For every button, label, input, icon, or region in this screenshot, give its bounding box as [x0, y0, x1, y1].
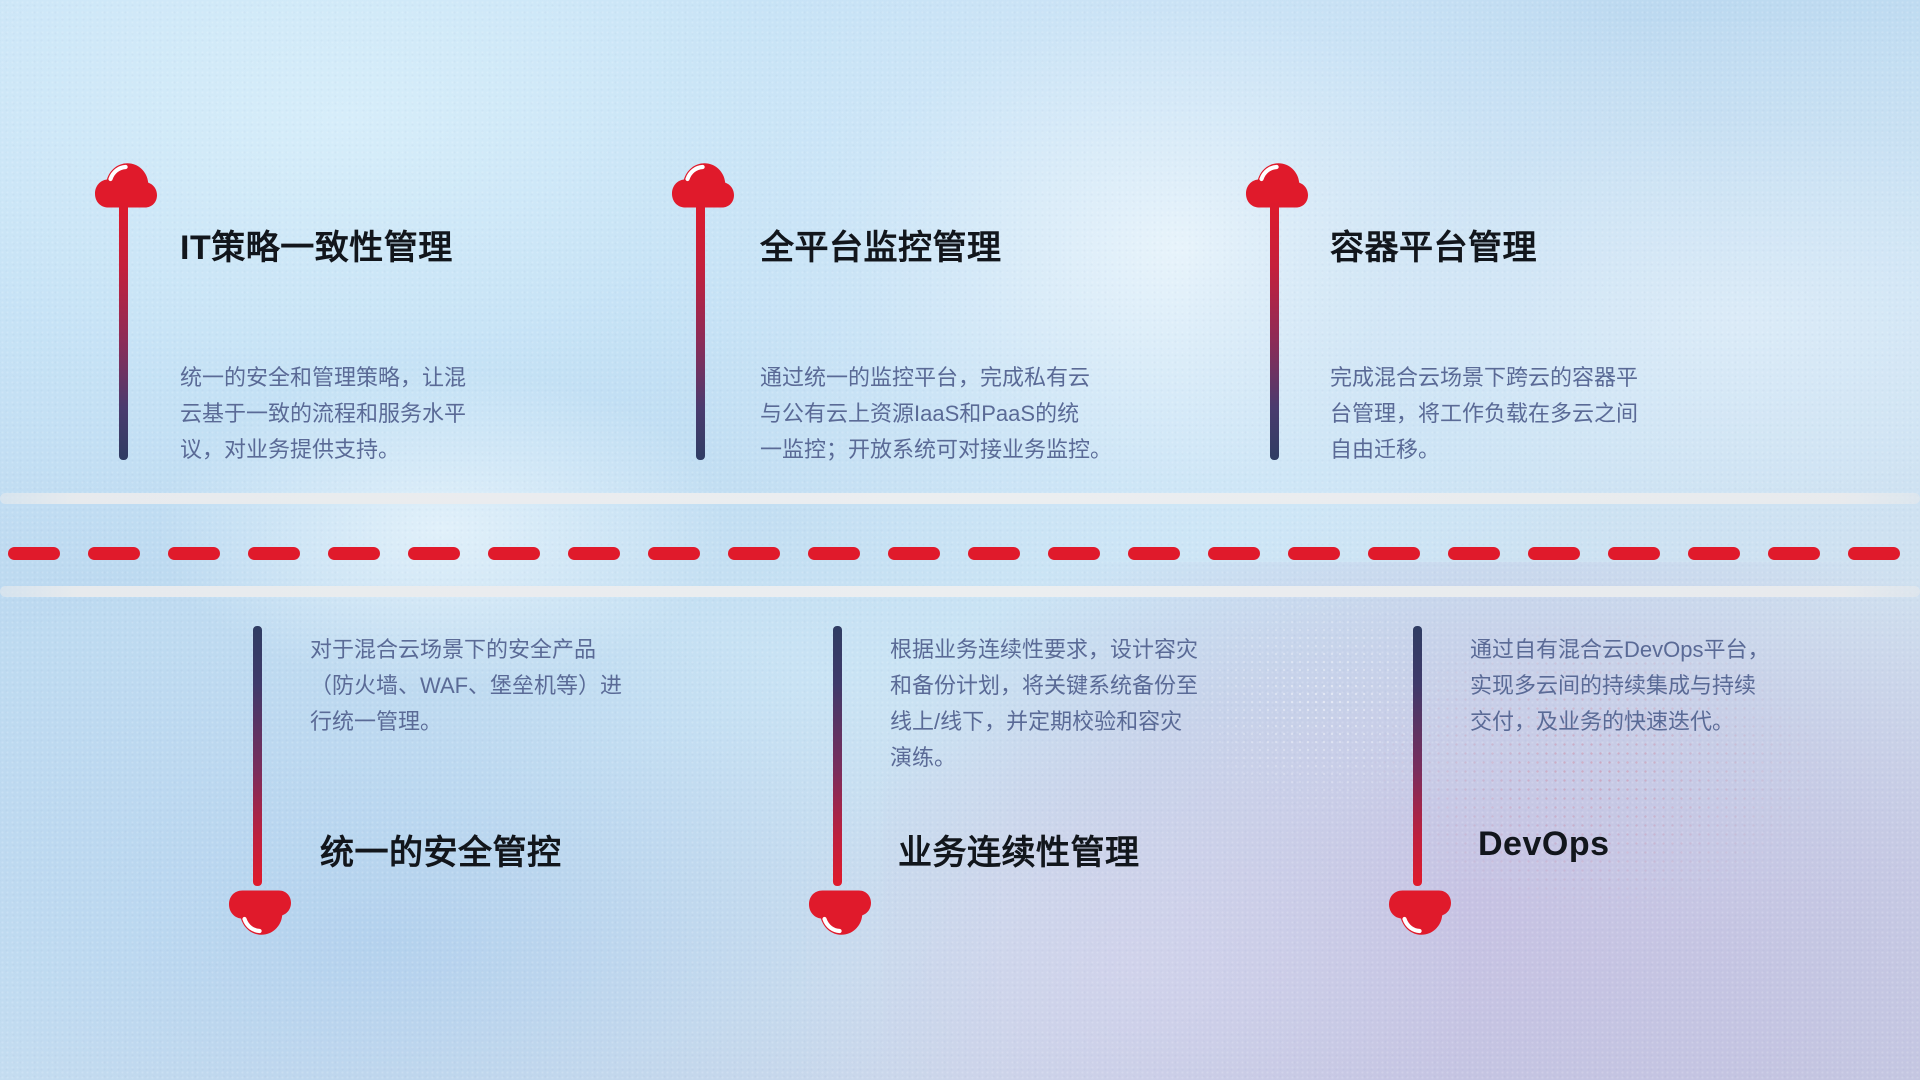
divider-dash: [1608, 547, 1660, 560]
divider-dash: [88, 547, 140, 560]
connector-stem: [1413, 626, 1422, 886]
divider-rail-bottom: [0, 586, 1920, 597]
feature-description: 通过统一的监控平台，完成私有云 与公有云上资源IaaS和PaaS的统 一监控；开…: [760, 360, 1210, 468]
divider-dash: [8, 547, 60, 560]
divider-dashed-line: [0, 546, 1920, 560]
feature-description: 统一的安全和管理策略，让混 云基于一致的流程和服务水平 议，对业务提供支持。: [180, 360, 610, 468]
connector-stem: [696, 200, 705, 460]
divider-dash: [1768, 547, 1820, 560]
feature-title: 容器平台管理: [1330, 220, 1537, 269]
connector-stem: [253, 626, 262, 886]
cloud-icon: [1388, 890, 1452, 938]
feature-title: IT策略一致性管理: [180, 220, 453, 269]
divider-dash: [648, 547, 700, 560]
feature-title: DevOps: [1478, 825, 1610, 864]
connector-stem: [1270, 200, 1279, 460]
feature-description: 通过自有混合云DevOps平台， 实现多云间的持续集成与持续 交付，及业务的快速…: [1470, 632, 1900, 740]
infographic-canvas: IT策略一致性管理 统一的安全和管理策略，让混 云基于一致的流程和服务水平 议，…: [0, 0, 1920, 1080]
divider-dash: [968, 547, 1020, 560]
divider-dash: [1208, 547, 1260, 560]
divider-dash: [488, 547, 540, 560]
feature-description: 完成混合云场景下跨云的容器平 台管理，将工作负载在多云之间 自由迁移。: [1330, 360, 1770, 468]
divider-dash: [168, 547, 220, 560]
divider-dash: [1528, 547, 1580, 560]
divider-dash: [1128, 547, 1180, 560]
cloud-icon: [228, 890, 292, 938]
divider-dash: [728, 547, 780, 560]
divider-dash: [1688, 547, 1740, 560]
divider-rail-top: [0, 493, 1920, 504]
cloud-icon: [808, 890, 872, 938]
divider-dash: [1048, 547, 1100, 560]
divider-dash: [808, 547, 860, 560]
divider-dash: [568, 547, 620, 560]
divider-dash: [1448, 547, 1500, 560]
divider-dash: [888, 547, 940, 560]
connector-stem: [833, 626, 842, 886]
divider-dash: [408, 547, 460, 560]
feature-title: 全平台监控管理: [760, 220, 1002, 269]
feature-description: 对于混合云场景下的安全产品 （防火墙、WAF、堡垒机等）进 行统一管理。: [310, 632, 740, 740]
feature-description: 根据业务连续性要求，设计容灾 和备份计划，将关键系统备份至 线上/线下，并定期校…: [890, 632, 1330, 776]
divider-dash: [1288, 547, 1340, 560]
divider-dash: [1368, 547, 1420, 560]
feature-title: 业务连续性管理: [898, 825, 1140, 874]
connector-stem: [119, 200, 128, 460]
feature-title: 统一的安全管控: [320, 825, 562, 874]
divider-dash: [328, 547, 380, 560]
divider-dash: [248, 547, 300, 560]
divider-dash: [1848, 547, 1900, 560]
